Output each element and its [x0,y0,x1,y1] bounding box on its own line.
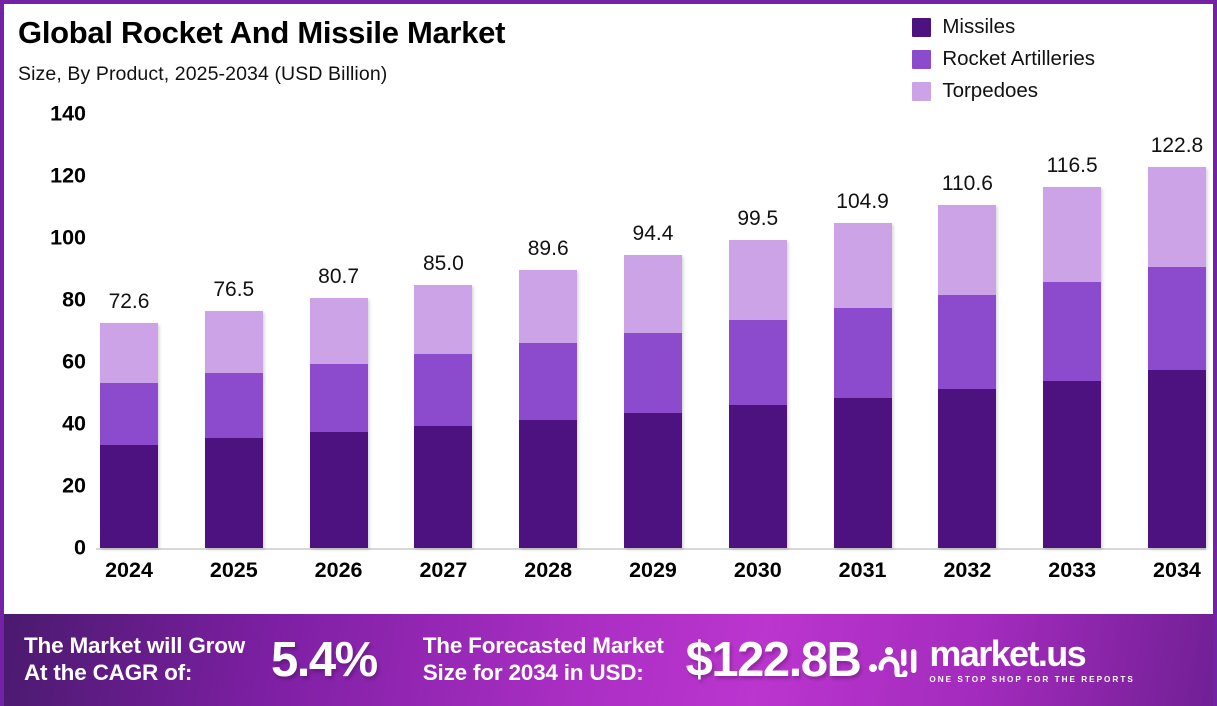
stacked-bar[interactable] [1043,187,1101,548]
legend-swatch-icon [912,82,931,101]
forecast-value: $122.8B [686,632,861,688]
forecast-caption-line2: Size for 2034 in USD: [423,660,664,687]
cagr-caption: The Market will Grow At the CAGR of: [24,633,245,686]
y-axis-tick: 100 [50,226,86,251]
bar-column[interactable]: 110.6 [938,114,996,548]
bar-segment-rocket-artilleries[interactable] [624,333,682,413]
x-axis-tick: 2027 [414,558,472,598]
legend-item[interactable]: Missiles [912,16,1095,38]
bar-column[interactable]: 116.5 [1043,114,1101,548]
stacked-bar[interactable] [310,298,368,548]
bar-value-label: 99.5 [737,207,778,231]
bar-segment-missiles[interactable] [1148,370,1206,548]
bar-segment-rocket-artilleries[interactable] [1043,282,1101,381]
bar-segment-torpedoes[interactable] [834,223,892,309]
bar-value-label: 89.6 [528,237,569,261]
bar-segment-torpedoes[interactable] [1148,167,1206,267]
footer-banner: The Market will Grow At the CAGR of: 5.4… [4,614,1217,706]
bar-segment-rocket-artilleries[interactable] [100,383,158,445]
bar-column[interactable]: 76.5 [205,114,263,548]
bar-segment-torpedoes[interactable] [414,285,472,354]
legend-swatch-icon [912,18,931,37]
bar-column[interactable]: 122.8 [1148,114,1206,548]
bar-segment-torpedoes[interactable] [205,311,263,373]
legend-swatch-icon [912,50,931,69]
bar-segment-rocket-artilleries[interactable] [205,373,263,438]
bar-column[interactable]: 80.7 [310,114,368,548]
x-axis-tick: 2025 [205,558,263,598]
stacked-bar[interactable] [729,240,787,548]
bar-value-label: 72.6 [109,290,150,314]
bar-value-label: 116.5 [1047,154,1098,178]
chart-plot-area: 140120100806040200 72.676.580.785.089.69… [4,114,1213,604]
stacked-bar[interactable] [519,270,577,548]
cagr-caption-line2: At the CAGR of: [24,660,245,687]
forecast-caption: The Forecasted Market Size for 2034 in U… [423,633,664,686]
bar-segment-missiles[interactable] [729,405,787,548]
bar-segment-missiles[interactable] [205,438,263,548]
bar-segment-missiles[interactable] [938,389,996,548]
bar-value-label: 104.9 [836,190,889,214]
bar-segment-missiles[interactable] [414,426,472,548]
x-axis-tick: 2028 [519,558,577,598]
bar-segment-torpedoes[interactable] [310,298,368,364]
bar-column[interactable]: 104.9 [834,114,892,548]
stacked-bar[interactable] [205,311,263,548]
market-us-logo-text: market.us ONE STOP SHOP FOR THE REPORTS [929,636,1134,684]
x-axis: 2024202520262027202820292030203120322033… [100,558,1206,598]
bar-segment-torpedoes[interactable] [624,255,682,332]
chart-legend: MissilesRocket ArtilleriesTorpedoes [912,16,1095,102]
bar-segment-torpedoes[interactable] [729,240,787,321]
bar-segment-rocket-artilleries[interactable] [310,364,368,433]
legend-item-label: Rocket Artilleries [942,47,1095,71]
bar-segment-missiles[interactable] [100,445,158,548]
x-axis-tick: 2026 [310,558,368,598]
bar-column[interactable]: 85.0 [414,114,472,548]
page-title: Global Rocket And Missile Market [18,16,505,50]
y-axis-tick: 20 [62,474,86,499]
bar-value-label: 110.6 [942,172,993,196]
header: Global Rocket And Missile Market Size, B… [18,16,505,86]
bar-column[interactable]: 72.6 [100,114,158,548]
bar-segment-missiles[interactable] [624,413,682,548]
chart-subtitle: Size, By Product, 2025-2034 (USD Billion… [18,63,505,86]
bar-value-label: 85.0 [423,252,464,276]
infographic-root: Global Rocket And Missile Market Size, B… [0,0,1217,706]
bar-segment-rocket-artilleries[interactable] [938,295,996,389]
stacked-bar[interactable] [1148,167,1206,548]
bar-value-label: 76.5 [213,278,254,302]
bar-segment-missiles[interactable] [834,398,892,548]
bar-column[interactable]: 99.5 [729,114,787,548]
bar-column[interactable]: 94.4 [624,114,682,548]
y-axis-tick: 60 [62,350,86,375]
x-axis-tick: 2030 [729,558,787,598]
bar-value-label: 94.4 [633,222,674,246]
bar-segment-missiles[interactable] [519,420,577,548]
y-axis-tick: 40 [62,412,86,437]
logo-name: market.us [929,636,1134,672]
bar-segment-torpedoes[interactable] [1043,187,1101,282]
bar-segment-torpedoes[interactable] [519,270,577,343]
legend-item[interactable]: Rocket Artilleries [912,48,1095,70]
stacked-bar[interactable] [938,205,996,548]
bar-segment-rocket-artilleries[interactable] [414,354,472,427]
bar-value-label: 80.7 [318,265,359,289]
bar-group: 72.676.580.785.089.694.499.5104.9110.611… [100,114,1206,548]
stacked-bar[interactable] [414,285,472,549]
y-axis: 140120100806040200 [4,114,96,548]
legend-item[interactable]: Torpedoes [912,80,1095,102]
bar-segment-torpedoes[interactable] [938,205,996,295]
x-axis-tick: 2033 [1043,558,1101,598]
x-axis-tick: 2034 [1148,558,1206,598]
cagr-value: 5.4% [271,632,377,688]
stacked-bar[interactable] [834,223,892,548]
y-axis-tick: 0 [74,536,86,561]
legend-item-label: Missiles [942,15,1015,39]
bar-segment-rocket-artilleries[interactable] [519,343,577,420]
bar-segment-torpedoes[interactable] [100,323,158,383]
stacked-bar[interactable] [100,323,158,548]
bar-segment-rocket-artilleries[interactable] [729,320,787,405]
bar-column[interactable]: 89.6 [519,114,577,548]
bar-segment-rocket-artilleries[interactable] [1148,267,1206,370]
market-us-logo-icon [868,643,920,677]
stacked-bar[interactable] [624,255,682,548]
x-axis-tick: 2024 [100,558,158,598]
x-axis-tick: 2032 [938,558,996,598]
y-axis-tick: 120 [50,164,86,189]
x-axis-line [96,548,1206,550]
market-us-logo[interactable]: market.us ONE STOP SHOP FOR THE REPORTS [868,636,1134,684]
legend-item-label: Torpedoes [942,79,1038,103]
y-axis-tick: 140 [50,102,86,127]
cagr-caption-line1: The Market will Grow [24,633,245,660]
bar-segment-missiles[interactable] [1043,381,1101,548]
x-axis-tick: 2029 [624,558,682,598]
bar-segment-rocket-artilleries[interactable] [834,308,892,397]
bar-value-label: 122.8 [1151,134,1204,158]
forecast-caption-line1: The Forecasted Market [423,633,664,660]
logo-tagline: ONE STOP SHOP FOR THE REPORTS [929,675,1134,684]
x-axis-tick: 2031 [834,558,892,598]
y-axis-tick: 80 [62,288,86,313]
bar-segment-missiles[interactable] [310,432,368,548]
